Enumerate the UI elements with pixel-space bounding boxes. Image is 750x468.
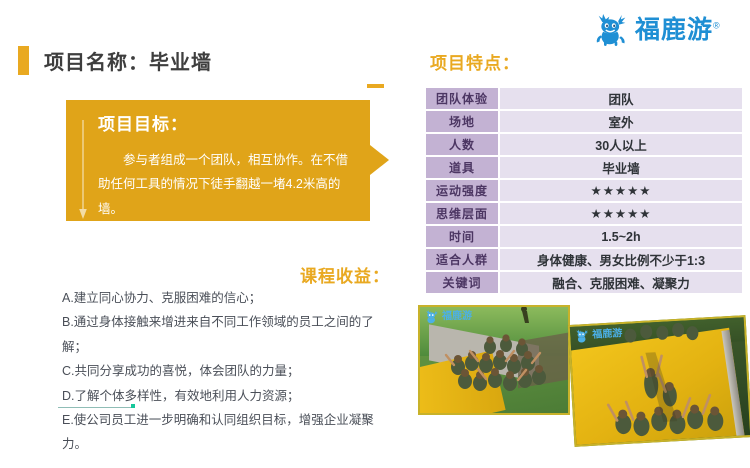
- down-arrow-icon: [76, 120, 90, 220]
- row-label: 团队体验: [426, 88, 498, 109]
- annotation-dot: [131, 404, 135, 408]
- table-row: 关键词 融合、克服困难、凝聚力: [426, 272, 742, 293]
- page-title-text: 项目名称：毕业墙: [44, 46, 212, 75]
- table-row: 道具 毕业墙: [426, 157, 742, 178]
- deer-mascot-icon: [594, 14, 630, 46]
- row-value: 融合、克服困难、凝聚力: [498, 272, 742, 293]
- brand-logo: 福鹿游®: [594, 14, 721, 46]
- list-item: B.通过身体接触来增进来自不同工作领域的员工之间的了解；: [62, 310, 392, 359]
- row-label: 道具: [426, 157, 498, 178]
- deer-mascot-icon: [424, 310, 440, 324]
- team-climbing-wall-photo-1: 福鹿游: [418, 305, 570, 415]
- row-label: 关键词: [426, 272, 498, 293]
- row-value-rating: ★★★★★: [498, 203, 742, 224]
- registered-mark: ®: [713, 20, 721, 30]
- row-label: 人数: [426, 134, 498, 155]
- table-row: 时间 1.5~2h: [426, 226, 742, 247]
- brand-name-text: 福鹿游: [635, 16, 713, 44]
- row-label: 时间: [426, 226, 498, 247]
- row-value: 毕业墙: [498, 157, 742, 178]
- brand-name: 福鹿游®: [635, 18, 721, 43]
- deer-mascot-icon: [574, 329, 591, 344]
- row-label: 运动强度: [426, 180, 498, 201]
- photo-watermark-text: 福鹿游: [592, 329, 623, 341]
- row-label: 思维层面: [426, 203, 498, 224]
- slide-root: 福鹿游® 项目名称：毕业墙 项目目标： 参与者组成一个团队，相互协作。在不借助任…: [0, 0, 750, 468]
- row-value: 1.5~2h: [498, 226, 742, 247]
- table-row: 场地 室外: [426, 111, 742, 132]
- title-accent-bar: [18, 46, 29, 75]
- benefits-heading: 课程收益：: [0, 262, 390, 287]
- table-row: 思维层面 ★★★★★: [426, 203, 742, 224]
- row-value: 30人以上: [498, 134, 742, 155]
- row-value: 团队: [498, 88, 742, 109]
- table-row: 运动强度 ★★★★★: [426, 180, 742, 201]
- photo-watermark: 福鹿游: [424, 310, 472, 324]
- team-climbing-wall-photo-2: 福鹿游: [568, 315, 750, 447]
- row-label: 适合人群: [426, 249, 498, 270]
- table-row: 人数 30人以上: [426, 134, 742, 155]
- decorative-dash: [367, 84, 384, 88]
- table-row: 适合人群 身体健康、男女比例不少于1:3: [426, 249, 742, 270]
- benefits-list: A.建立同心协力、克服困难的信心； B.通过身体接触来增进来自不同工作领域的员工…: [62, 286, 392, 457]
- annotation-line: [58, 407, 133, 408]
- photo-watermark-text: 福鹿游: [442, 312, 472, 322]
- list-item: D.了解个体多样性，有效地利用人力资源；: [62, 384, 392, 408]
- list-item: C.共同分享成功的喜悦，体会团队的力量；: [62, 359, 392, 383]
- goal-heading: 项目目标：: [98, 110, 188, 135]
- list-item: E.使公司员工进一步明确和认同组织目标，增强企业凝聚力。: [62, 408, 392, 457]
- row-value: 室外: [498, 111, 742, 132]
- row-value-rating: ★★★★★: [498, 180, 742, 201]
- row-value: 身体健康、男女比例不少于1:3: [498, 249, 742, 270]
- page-title: 项目名称：毕业墙: [18, 46, 212, 75]
- goal-body-text: 参与者组成一个团队，相互协作。在不借助任何工具的情况下徒手翻越一堵4.2米高的墙…: [98, 148, 360, 221]
- list-item: A.建立同心协力、克服困难的信心；: [62, 286, 392, 310]
- row-label: 场地: [426, 111, 498, 132]
- features-table: 团队体验 团队 场地 室外 人数 30人以上 道具 毕业墙 运动强度 ★★★★★…: [426, 86, 742, 295]
- features-heading: 项目特点：: [430, 49, 520, 74]
- table-row: 团队体验 团队: [426, 88, 742, 109]
- photo-watermark: 福鹿游: [574, 327, 623, 344]
- goal-box-notch-icon: [370, 145, 389, 175]
